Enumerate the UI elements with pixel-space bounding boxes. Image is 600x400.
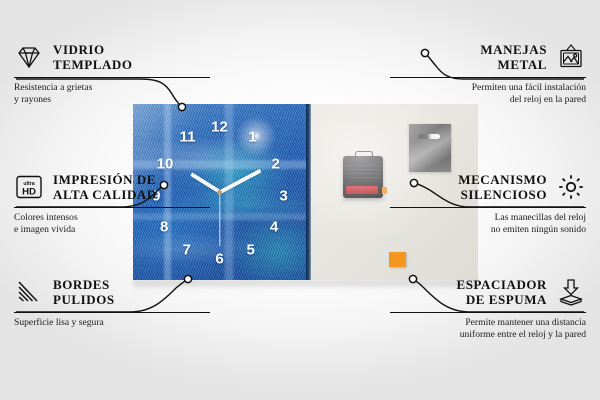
polished-edge-icon [14, 277, 44, 307]
feature-divider [14, 312, 210, 313]
ultra-hd-bottom-text: HD [22, 187, 36, 198]
feature-vidrio-templado: VIDRIOTEMPLADO Resistencia a grietasy ra… [14, 42, 210, 107]
clock-numeral-7: 7 [182, 243, 190, 258]
foam-spacer-press-icon [556, 277, 586, 307]
feature-subtitle: Las manecillas del relojno emiten ningún… [390, 212, 586, 237]
feature-header: MANEJASMETAL [390, 42, 586, 73]
foam-spacer [389, 252, 406, 267]
clock-numeral-10: 10 [157, 156, 174, 171]
feature-header: VIDRIOTEMPLADO [14, 42, 210, 73]
feature-header: BORDESPULIDOS [14, 277, 210, 308]
feature-bordes-pulidos: BORDESPULIDOS Superficie lisa y segura [14, 277, 210, 329]
movement-hanger-tab [355, 151, 373, 158]
feature-espaciador-espuma: ESPACIADORDE ESPUMA Permite mantener una… [390, 277, 586, 342]
clock-numeral-2: 2 [272, 156, 280, 171]
infographic-stage: 12 1 2 3 4 5 6 7 8 9 10 11 [0, 0, 600, 400]
feature-subtitle: Colores intensose imagen vívida [14, 212, 210, 237]
clock-numeral-11: 11 [180, 130, 196, 145]
clock-numeral-4: 4 [270, 220, 278, 235]
gear-icon [556, 172, 586, 202]
clock-numeral-12: 12 [211, 119, 228, 134]
feature-divider [390, 312, 586, 313]
feature-subtitle: Permite mantener una distanciauniforme e… [390, 317, 586, 342]
clock-center-hub [217, 190, 222, 195]
feature-manejas-metal: MANEJASMETAL Permiten una fácil instalac… [390, 42, 586, 107]
feature-title: VIDRIOTEMPLADO [53, 42, 210, 73]
hanger-slot [418, 134, 440, 139]
feature-title: BORDESPULIDOS [53, 277, 210, 308]
feature-title: MANEJASMETAL [390, 42, 547, 73]
feature-divider [14, 77, 210, 78]
feature-subtitle: Superficie lisa y segura [14, 317, 210, 330]
feature-impresion-alta-calidad: ultra HD IMPRESIÓN DEALTA CALIDAD Colore… [14, 172, 210, 237]
battery [346, 186, 378, 194]
ultra-hd-badge-icon: ultra HD [14, 172, 44, 202]
clock-numeral-6: 6 [215, 251, 223, 266]
feature-subtitle: Permiten una fácil instalacióndel reloj … [390, 82, 586, 107]
clock-numeral-3: 3 [279, 188, 287, 203]
clock-movement-mechanism [343, 156, 383, 198]
battery-terminal [382, 187, 387, 194]
feature-title: MECANISMOSILENCIOSO [390, 172, 547, 203]
feature-title: IMPRESIÓN DEALTA CALIDAD [53, 172, 210, 203]
clock-second-hand [219, 192, 220, 246]
feature-divider [390, 77, 586, 78]
feature-header: ESPACIADORDE ESPUMA [390, 277, 586, 308]
feature-title: ESPACIADORDE ESPUMA [390, 277, 547, 308]
clock-numeral-5: 5 [246, 243, 254, 258]
diamond-icon [14, 42, 44, 72]
feature-mecanismo-silencioso: MECANISMOSILENCIOSO Las manecillas del r… [390, 172, 586, 237]
feature-header: ultra HD IMPRESIÓN DEALTA CALIDAD [14, 172, 210, 203]
feature-divider [390, 207, 586, 208]
clock-numeral-1: 1 [248, 130, 256, 145]
metal-hanger-plate [409, 124, 451, 172]
clock-minute-hand [219, 169, 261, 194]
feature-divider [14, 207, 210, 208]
feature-header: MECANISMOSILENCIOSO [390, 172, 586, 203]
movement-ribbing [347, 162, 379, 178]
feature-subtitle: Resistencia a grietasy rayones [14, 82, 210, 107]
picture-frame-hanging-icon [556, 42, 586, 72]
